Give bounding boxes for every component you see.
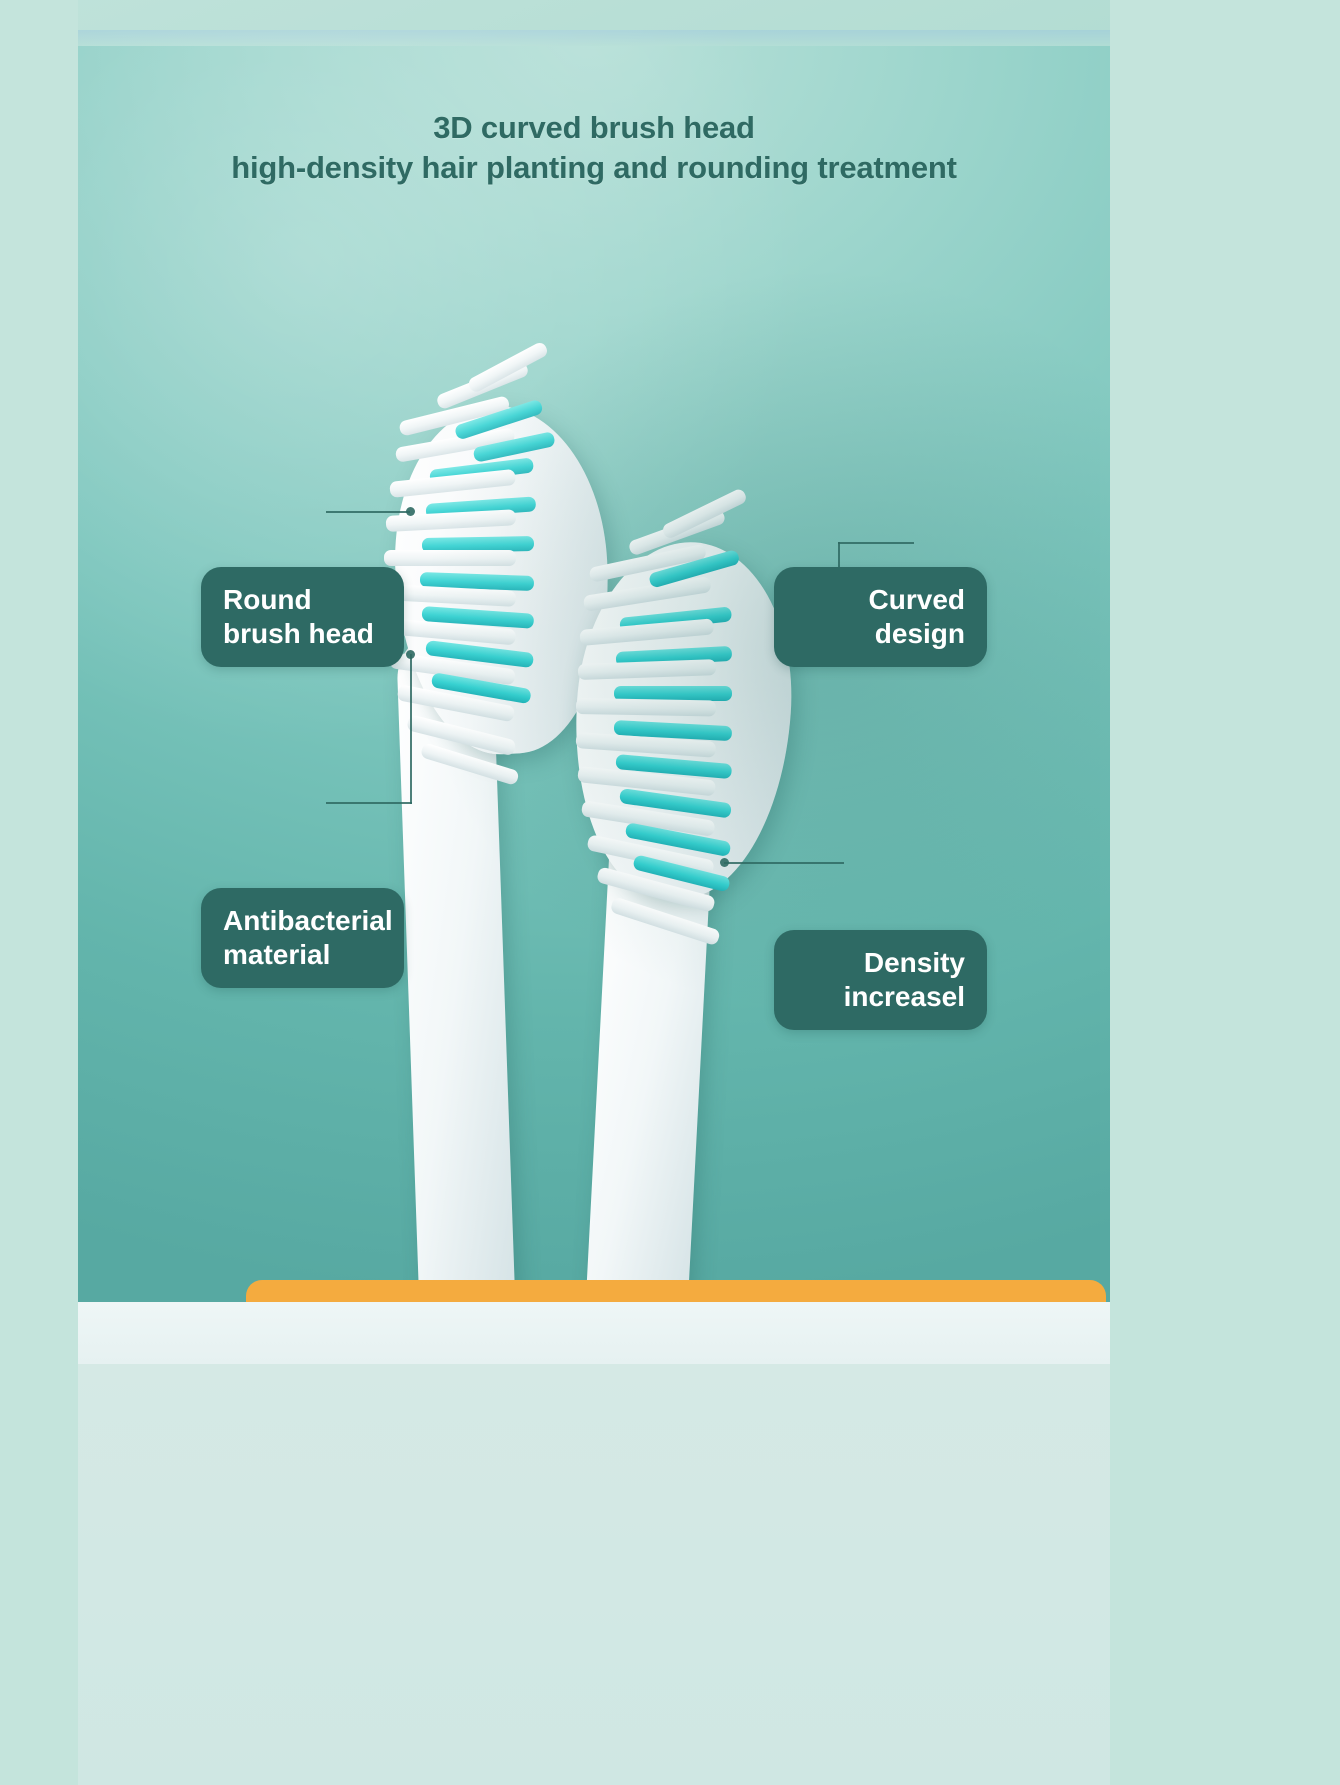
below-photo-strip — [78, 1302, 1110, 1364]
right-gutter — [1110, 0, 1340, 1785]
leader-line-antibacterial-horizontal — [326, 802, 412, 804]
left-gutter — [0, 0, 78, 1785]
callout-round-brush-head[interactable]: Round brush head — [201, 567, 404, 667]
callout-curved-design[interactable]: Curved design — [774, 567, 987, 667]
bristle — [661, 487, 748, 540]
leader-dot-density — [720, 858, 729, 867]
page-title-line2: high-density hair planting and rounding … — [78, 148, 1110, 188]
accent-bar — [246, 1280, 1106, 1302]
page-title-line1: 3D curved brush head — [78, 108, 1110, 148]
bristle — [466, 341, 549, 395]
leader-line-curved-horizontal — [838, 542, 914, 544]
product-photo-panel: 3D curved brush head high-density hair p… — [78, 30, 1110, 1302]
leader-line-density-horizontal — [724, 862, 844, 864]
leader-dot-antibacterial — [406, 650, 415, 659]
leader-line-round-horizontal — [326, 511, 410, 513]
leader-line-antibacterial-vertical — [410, 654, 412, 804]
callout-antibacterial-material[interactable]: Antibacterial material — [201, 888, 404, 988]
page-title: 3D curved brush head high-density hair p… — [78, 108, 1110, 187]
callout-density-increase[interactable]: Density increasel — [774, 930, 987, 1030]
below-photo-panel — [78, 1364, 1110, 1785]
bristle — [384, 550, 516, 566]
infographic-page: 3D curved brush head high-density hair p… — [0, 0, 1340, 1785]
bristle — [576, 698, 716, 716]
leader-dot-round — [406, 507, 415, 516]
photo-top-strip — [78, 30, 1110, 46]
